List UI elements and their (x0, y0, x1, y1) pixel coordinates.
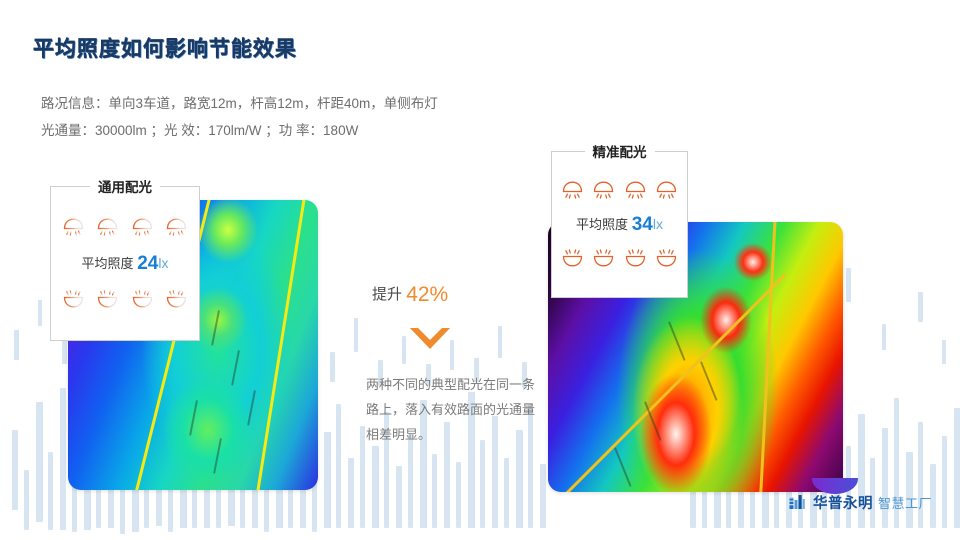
pendant-lamp-icon (590, 176, 617, 200)
chevron-down-icon (408, 326, 452, 352)
pendant-lamp-icon (559, 176, 586, 200)
decor-bar (324, 432, 331, 528)
pendant-lamp-icon (94, 213, 121, 237)
decor-bar (24, 470, 29, 530)
card-right-avg-unit: lx (653, 216, 663, 232)
center-description: 两种不同的典型配光在同一条路上，落入有效路面的光通量相差明显。 (366, 372, 541, 447)
lamp-row-top-left (51, 213, 199, 237)
decor-bar (396, 466, 402, 528)
decor-bar (14, 330, 19, 360)
decor-bar (360, 426, 365, 528)
road-parameters-text: 路况信息：单向3车道，路宽12m，杆高12m，杆距40m，单侧布灯 光通量：30… (41, 90, 438, 144)
uplight-lamp-icon (60, 289, 87, 313)
pendant-lamp-icon (653, 176, 680, 200)
lamp-row-top-right (552, 176, 687, 200)
pendant-lamp-icon (129, 213, 156, 237)
card-right-average: 平均照度 34lx (552, 214, 687, 236)
card-general-distribution: 通用配光 平均照度 24lx (50, 186, 200, 341)
card-right-avg-label: 平均照度 (576, 217, 628, 232)
decor-bar (62, 340, 67, 364)
decor-bar (480, 440, 485, 528)
decor-bar (882, 428, 888, 528)
subtitle-line-2: 光通量：30000lm ；光 效：170lm/W ；功 率：180W (41, 117, 438, 144)
uplight-lamp-icon (94, 289, 121, 313)
card-left-average: 平均照度 24lx (51, 253, 199, 275)
uplight-lamp-icon (129, 289, 156, 313)
decor-bar (38, 300, 42, 326)
uplight-lamp-icon (653, 248, 680, 272)
decor-bar (504, 458, 509, 528)
improvement-value: 42% (406, 283, 448, 306)
subtitle-line-1: 路况信息：单向3车道，路宽12m，杆高12m，杆距40m，单侧布灯 (41, 90, 438, 117)
company-logo: 华普永明 智慧工厂 (789, 492, 932, 513)
page-title: 平均照度如何影响节能效果 (33, 33, 297, 63)
decor-bar (432, 454, 437, 528)
uplight-lamp-icon (590, 248, 617, 272)
lamp-row-bottom-right (552, 248, 687, 272)
decor-bar (330, 352, 335, 382)
decor-bar (348, 458, 354, 528)
decor-bar (942, 340, 946, 364)
card-left-avg-unit: lx (158, 255, 168, 271)
improvement-label: 提升 (372, 286, 402, 303)
decor-bar (918, 292, 923, 322)
factory-logo-icon (789, 493, 808, 512)
decor-bar (498, 326, 502, 358)
card-precision-distribution: 精准配光 平均照度 34lx (551, 151, 688, 298)
card-left-avg-value: 24 (137, 253, 158, 274)
decor-bar (372, 446, 379, 528)
decor-bar (336, 404, 341, 528)
card-left-title: 通用配光 (90, 176, 160, 196)
decor-bar (354, 318, 358, 352)
pendant-lamp-icon (163, 213, 190, 237)
card-right-title: 精准配光 (585, 141, 655, 161)
decor-bar (48, 452, 53, 530)
decor-bar (882, 324, 886, 350)
card-left-avg-label: 平均照度 (82, 256, 134, 271)
decor-bar (846, 268, 851, 302)
decor-bar (402, 336, 406, 364)
decor-bar (60, 388, 66, 530)
logo-sub-text: 智慧工厂 (878, 493, 932, 512)
logo-brand-text: 华普永明 (813, 492, 873, 513)
uplight-lamp-icon (559, 248, 586, 272)
decor-bar (36, 402, 43, 522)
card-right-avg-value: 34 (632, 214, 653, 235)
uplight-lamp-icon (163, 289, 190, 313)
decor-bar (540, 464, 546, 528)
slide-canvas: 平均照度如何影响节能效果 路况信息：单向3车道，路宽12m，杆高12m，杆距40… (0, 0, 960, 540)
decor-bar (942, 436, 947, 528)
decor-bar (408, 434, 413, 528)
decor-bar (906, 452, 913, 528)
decor-bar (12, 430, 18, 510)
lamp-row-bottom-left (51, 289, 199, 313)
pendant-lamp-icon (60, 213, 87, 237)
pendant-lamp-icon (622, 176, 649, 200)
decor-bar (954, 408, 960, 528)
decor-bar (456, 462, 461, 528)
improvement-line: 提升 42% (372, 283, 448, 307)
uplight-lamp-icon (622, 248, 649, 272)
